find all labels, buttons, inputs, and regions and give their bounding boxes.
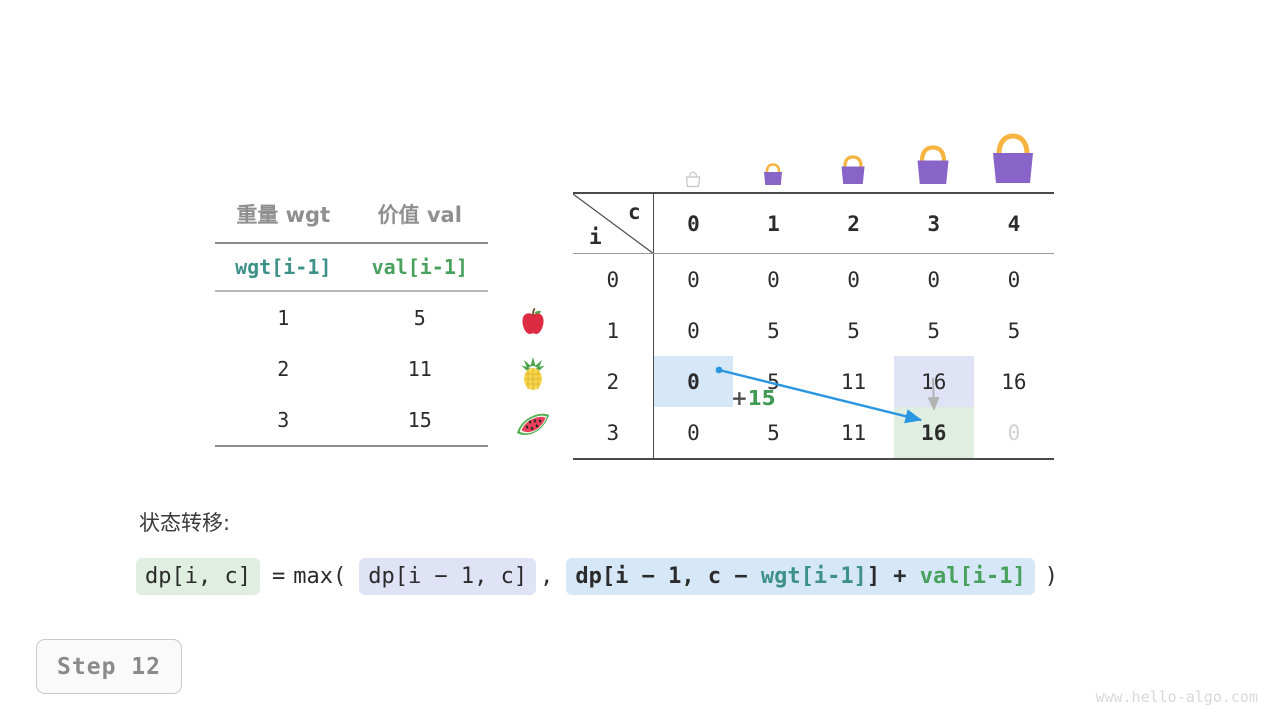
table-row: 2 11 xyxy=(215,343,488,394)
formula-equals: = xyxy=(268,564,289,589)
dp-table-panel: c i 0 1 2 3 4 0 0 0 0 0 0 1 0 5 xyxy=(573,130,1054,460)
pineapple-icon xyxy=(516,355,550,391)
table-row: 2 0 5 11 16 16 xyxy=(573,356,1054,407)
bag-icon-capacity-0 xyxy=(682,170,704,192)
dp-cell-pending: 0 xyxy=(974,407,1054,459)
dp-col-header: 1 xyxy=(733,193,813,254)
items-table-grid: 重量 wgt 价值 val wgt[i-1] val[i-1] 1 5 2 11… xyxy=(215,192,488,447)
dp-cell: 5 xyxy=(733,305,813,356)
dp-cell: 0 xyxy=(974,254,1054,306)
formula-max-open: max( xyxy=(289,564,350,589)
formula-arg-skip: dp[i − 1, c] xyxy=(359,558,536,595)
items-symbol-row: wgt[i-1] val[i-1] xyxy=(215,243,488,291)
dp-col-header: 3 xyxy=(894,193,974,254)
dp-cell: 0 xyxy=(813,254,893,306)
items-symbol-wgt: wgt[i-1] xyxy=(215,243,352,291)
bag-cell xyxy=(653,130,733,192)
items-table-header-row: 重量 wgt 价值 val xyxy=(215,192,488,243)
dp-table-grid: c i 0 1 2 3 4 0 0 0 0 0 0 1 0 5 xyxy=(573,192,1054,460)
bag-icon-capacity-1 xyxy=(758,162,788,192)
plus-amount: 15 xyxy=(748,386,776,410)
formula-comma: , xyxy=(536,564,557,589)
table-row: 0 0 0 0 0 0 xyxy=(573,254,1054,306)
formula-arg-take-mid: ] + xyxy=(867,564,920,589)
dp-cell: 0 xyxy=(894,254,974,306)
plus-sign: + xyxy=(731,386,748,410)
dp-cell: 5 xyxy=(974,305,1054,356)
table-row: 3 15 xyxy=(215,394,488,446)
table-row: 1 0 5 5 5 5 xyxy=(573,305,1054,356)
watermelon-icon xyxy=(514,409,552,439)
formula-close-paren: ) xyxy=(1041,564,1062,589)
dp-cell: 5 xyxy=(733,407,813,459)
item-weight: 2 xyxy=(215,343,352,394)
dp-header-row: c i 0 1 2 3 4 xyxy=(573,193,1054,254)
bag-cell xyxy=(733,130,813,192)
bag-cell xyxy=(813,130,893,192)
step-badge: Step 12 xyxy=(36,639,182,694)
table-row: 3 0 5 11 16 0 xyxy=(573,407,1054,459)
item-weight: 1 xyxy=(215,291,352,343)
fruit-slot xyxy=(505,398,561,449)
dp-col-header: 0 xyxy=(653,193,733,254)
dp-cell: 16 xyxy=(974,356,1054,407)
dp-row-header: 2 xyxy=(573,356,653,407)
dp-cell: 5 xyxy=(894,305,974,356)
state-transition-formula: dp[i, c] = max( dp[i − 1, c] , dp[i − 1,… xyxy=(136,558,1062,595)
dp-cell: 0 xyxy=(733,254,813,306)
bag-icon-capacity-3 xyxy=(908,144,958,192)
watermark: www.hello-algo.com xyxy=(1095,688,1258,706)
dp-col-header: 2 xyxy=(813,193,893,254)
dp-corner-cell: c i xyxy=(573,193,653,254)
item-value: 11 xyxy=(352,343,489,394)
dp-row-axis-label: i xyxy=(589,225,602,249)
formula-arg-take: dp[i − 1, c − wgt[i-1]] + val[i-1] xyxy=(566,558,1034,595)
formula-arg-take-prefix: dp[i − 1, c − xyxy=(575,564,760,589)
bag-cell xyxy=(893,130,973,192)
bag-cell xyxy=(973,130,1053,192)
apple-icon xyxy=(516,305,550,339)
items-header-weight: 重量 wgt xyxy=(215,192,352,243)
dp-row-header: 3 xyxy=(573,407,653,459)
item-fruit-column xyxy=(505,296,561,449)
items-header-value: 价值 val xyxy=(352,192,489,243)
item-value: 15 xyxy=(352,394,489,446)
dp-cell: 5 xyxy=(813,305,893,356)
dp-cell: 11 xyxy=(813,407,893,459)
items-table: 重量 wgt 价值 val wgt[i-1] val[i-1] 1 5 2 11… xyxy=(215,192,488,447)
fruit-slot xyxy=(505,296,561,347)
item-value: 5 xyxy=(352,291,489,343)
dp-cell-source-above: 16 xyxy=(894,356,974,407)
dp-cell: 0 xyxy=(653,305,733,356)
dp-col-header: 4 xyxy=(974,193,1054,254)
table-row: 1 5 xyxy=(215,291,488,343)
formula-lhs: dp[i, c] xyxy=(136,558,260,595)
dp-row-header: 1 xyxy=(573,305,653,356)
formula-arg-take-val: val[i-1] xyxy=(920,564,1026,589)
bag-icon-capacity-4 xyxy=(982,132,1044,192)
fruit-slot xyxy=(505,347,561,398)
state-transition-label: 状态转移: xyxy=(139,507,230,537)
bag-icon-capacity-2 xyxy=(834,154,872,192)
item-weight: 3 xyxy=(215,394,352,446)
dp-cell: 0 xyxy=(653,407,733,459)
items-symbol-val: val[i-1] xyxy=(352,243,489,291)
formula-arg-take-wgt: wgt[i-1] xyxy=(761,564,867,589)
dp-cell: 0 xyxy=(653,254,733,306)
dp-cell-current: 16 xyxy=(894,407,974,459)
dp-cell-source-capacity: 0 xyxy=(653,356,733,407)
dp-row-header: 0 xyxy=(573,254,653,306)
value-gain-label: +15 xyxy=(731,386,776,410)
dp-col-axis-label: c xyxy=(628,200,641,224)
dp-cell: 11 xyxy=(813,356,893,407)
knapsack-capacity-icons xyxy=(573,130,1054,192)
